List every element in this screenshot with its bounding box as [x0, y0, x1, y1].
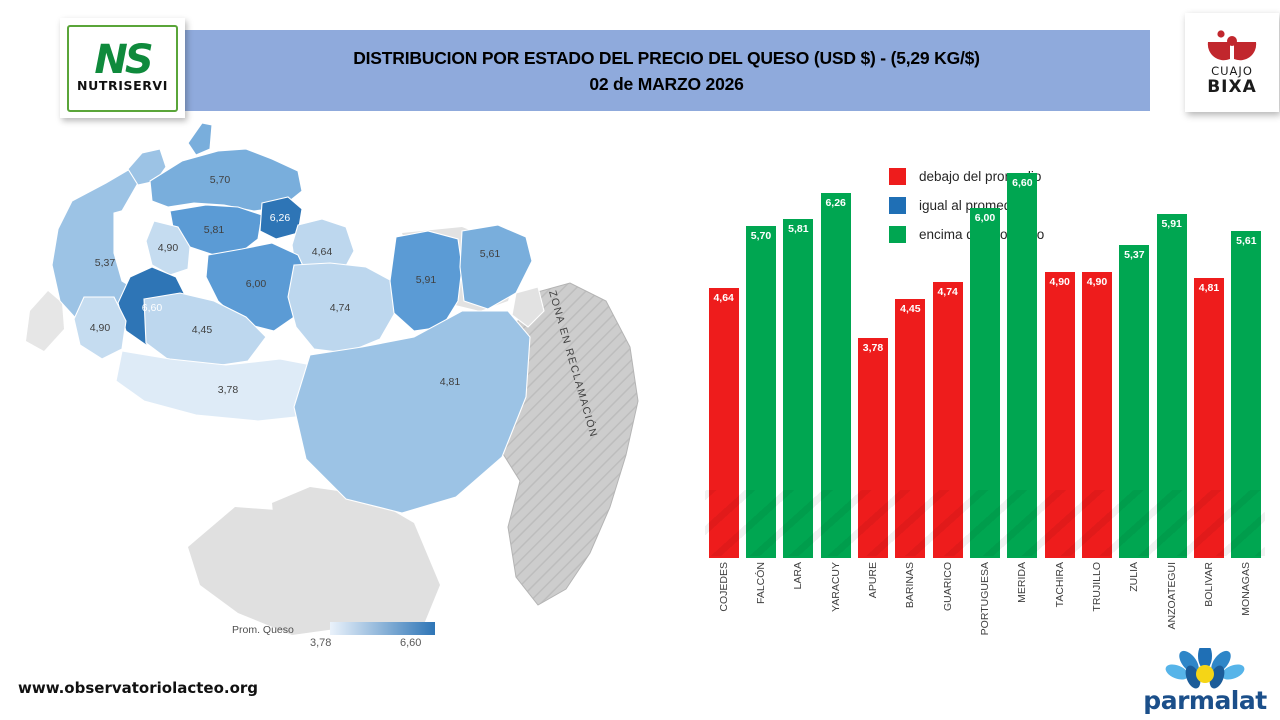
bar-column[interactable]: 3,78	[858, 338, 888, 558]
bar-falcón[interactable]: 5,70	[746, 226, 776, 558]
bar-column[interactable]: 5,37	[1119, 245, 1149, 558]
page-title-line1: DISTRIBUCION POR ESTADO DEL PRECIO DEL Q…	[353, 45, 980, 71]
bar-category-label: APURE	[867, 562, 879, 598]
bar-column[interactable]: 4,90	[1045, 272, 1075, 558]
bar-value-label: 3,78	[858, 342, 888, 354]
bar-apure[interactable]: 3,78	[858, 338, 888, 558]
nutriservi-logo-frame: NS NUTRISERVI	[67, 25, 178, 112]
bar-yaracuy[interactable]: 6,26	[821, 193, 851, 558]
bar-tachira[interactable]: 4,90	[1045, 272, 1075, 558]
bar-column[interactable]: 6,26	[821, 193, 851, 558]
bar-category-label: BARINAS	[904, 562, 916, 608]
parmalat-logo: parmalat	[1135, 648, 1275, 714]
bar-column[interactable]: 4,90	[1082, 272, 1112, 558]
venezuela-choropleth-map[interactable]: ZONA EN RECLAMACIÓN	[10, 115, 700, 635]
page-title-line2: 02 de MARZO 2026	[589, 71, 743, 97]
footer-website-url[interactable]: www.observatoriolacteo.org	[18, 679, 258, 697]
price-by-state-bar-chart[interactable]: 4,645,705,816,263,784,454,746,006,604,90…	[705, 150, 1265, 640]
bar-category-label: TACHIRA	[1054, 562, 1066, 607]
bar-value-label: 4,81	[1194, 282, 1224, 294]
map-scale-gradient-bar	[330, 622, 435, 635]
header-title-band: DISTRIBUCION POR ESTADO DEL PRECIO DEL Q…	[183, 30, 1150, 111]
bar-value-label: 4,45	[895, 303, 925, 315]
bar-anzoategui[interactable]: 5,91	[1157, 214, 1187, 558]
map-scale-label: Prom. Queso	[232, 624, 294, 636]
bar-category-label: FALCÓN	[755, 562, 767, 604]
bar-zulia[interactable]: 5,37	[1119, 245, 1149, 558]
bar-bolivar[interactable]: 4,81	[1194, 278, 1224, 558]
bar-column[interactable]: 5,81	[783, 219, 813, 558]
bar-column[interactable]: 4,45	[895, 299, 925, 558]
bar-merida[interactable]: 6,60	[1007, 173, 1037, 558]
bar-column[interactable]: 6,60	[1007, 173, 1037, 558]
map-color-scale-legend: Prom. Queso 3,78 6,60	[232, 622, 432, 656]
cuajo-bixa-mark-icon	[1206, 30, 1258, 62]
bar-value-label: 5,81	[783, 223, 813, 235]
cuajo-bixa-logo: CUAJO BIXA	[1185, 13, 1279, 112]
bar-column[interactable]: 4,64	[709, 288, 739, 558]
bar-value-label: 5,61	[1231, 235, 1261, 247]
bar-column[interactable]: 6,00	[970, 208, 1000, 558]
bar-column[interactable]: 5,91	[1157, 214, 1187, 558]
bar-value-label: 6,26	[821, 197, 851, 209]
bar-monagas[interactable]: 5,61	[1231, 231, 1261, 558]
bar-value-label: 4,90	[1045, 276, 1075, 288]
bar-value-label: 4,74	[933, 286, 963, 298]
bar-value-label: 5,37	[1119, 249, 1149, 261]
bar-column[interactable]: 5,70	[746, 226, 776, 558]
bar-value-label: 5,91	[1157, 218, 1187, 230]
bar-portuguesa[interactable]: 6,00	[970, 208, 1000, 558]
bar-value-label: 4,90	[1082, 276, 1112, 288]
bar-category-label: ZULIA	[1128, 562, 1140, 592]
bar-column[interactable]: 4,74	[933, 282, 963, 558]
bar-category-label: MONAGAS	[1240, 562, 1252, 616]
bar-barinas[interactable]: 4,45	[895, 299, 925, 558]
nutriservi-monogram: NS	[94, 43, 150, 77]
bar-guarico[interactable]: 4,74	[933, 282, 963, 558]
bar-lara[interactable]: 5,81	[783, 219, 813, 558]
bar-value-label: 4,64	[709, 292, 739, 304]
bar-chart-plot-area: 4,645,705,816,263,784,454,746,006,604,90…	[705, 150, 1265, 558]
parmalat-wordmark: parmalat	[1135, 686, 1275, 715]
nutriservi-logo: NS NUTRISERVI	[60, 18, 185, 118]
bar-value-label: 6,60	[1007, 177, 1037, 189]
bar-category-label: PORTUGUESA	[979, 562, 991, 635]
bixa-text: BIXA	[1207, 78, 1257, 96]
nutriservi-wordmark: NUTRISERVI	[77, 78, 168, 93]
bar-category-label: COJEDES	[718, 562, 730, 612]
bar-column[interactable]: 5,61	[1231, 231, 1261, 558]
bar-cojedes[interactable]: 4,64	[709, 288, 739, 558]
bar-category-label: TRUJILLO	[1091, 562, 1103, 612]
bar-trujillo[interactable]: 4,90	[1082, 272, 1112, 558]
cuajo-text: CUAJO	[1211, 65, 1253, 78]
bar-category-label: BOLIVAR	[1203, 562, 1215, 607]
bar-value-label: 6,00	[970, 212, 1000, 224]
bar-category-label: GUARICO	[942, 562, 954, 611]
map-scale-min-value: 3,78	[310, 637, 331, 649]
map-scale-max-value: 6,60	[400, 637, 421, 649]
parmalat-flower-icon	[1135, 648, 1275, 690]
bar-category-label: MERIDA	[1016, 562, 1028, 603]
bar-column[interactable]: 4,81	[1194, 278, 1224, 558]
bar-category-label: YARACUY	[830, 562, 842, 612]
bar-value-label: 5,70	[746, 230, 776, 242]
bar-category-label: ANZOATEGUI	[1166, 562, 1178, 629]
bar-category-label: LARA	[792, 562, 804, 589]
map-state-shapes[interactable]	[52, 123, 544, 513]
